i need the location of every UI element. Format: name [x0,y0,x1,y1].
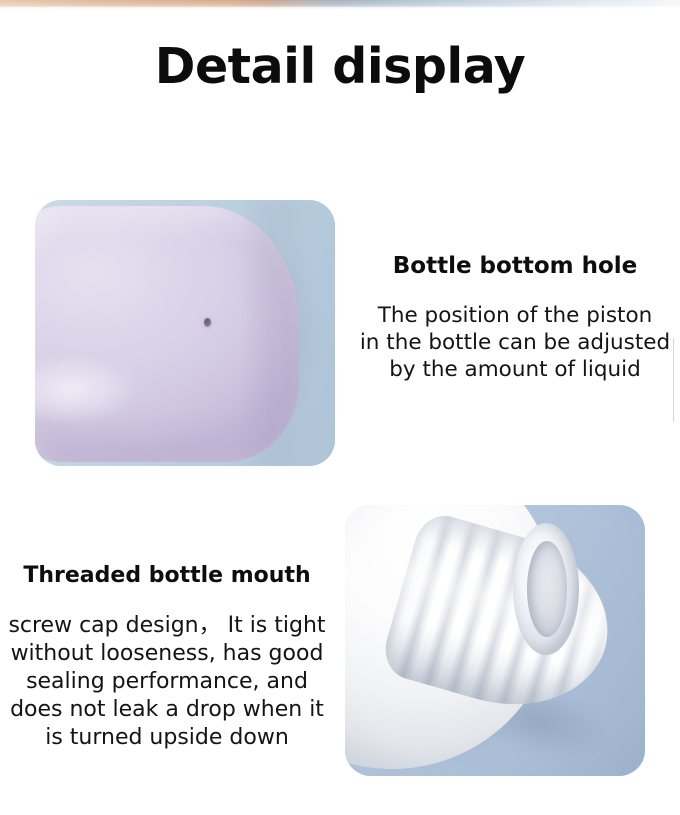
body-line: sealing performance, and [6,668,328,696]
threaded-bottle-mouth-photo [345,505,645,776]
body-line: does not leak a drop when it [6,696,328,724]
section-heading: Threaded bottle mouth [6,562,328,590]
photo-vignette [345,505,645,776]
bottle-edge-shading [241,200,311,466]
bottle-bottom-hole-text-block: Bottle bottom hole The position of the p… [352,252,678,383]
top-sliver-fade [0,7,680,19]
body-line: in the bottle can be adjusted [352,329,678,356]
body-line: The position of the piston [352,302,678,329]
section-heading: Bottle bottom hole [352,252,678,280]
bottle-bottom-hole-dot [204,318,211,327]
bottle-highlight [35,350,157,430]
bottle-bottom-photo [35,200,335,466]
page-title: Detail display [0,38,680,96]
body-line: by the amount of liquid [352,356,678,383]
section-body: The position of the piston in the bottle… [352,302,678,383]
body-line: is turned upside down [6,724,328,752]
threaded-bottle-mouth-text-block: Threaded bottle mouth screw cap design， … [6,562,328,752]
body-line: without looseness, has good [6,640,328,668]
section-body: screw cap design， It is tight without lo… [6,612,328,752]
body-line: screw cap design， It is tight [6,612,328,640]
